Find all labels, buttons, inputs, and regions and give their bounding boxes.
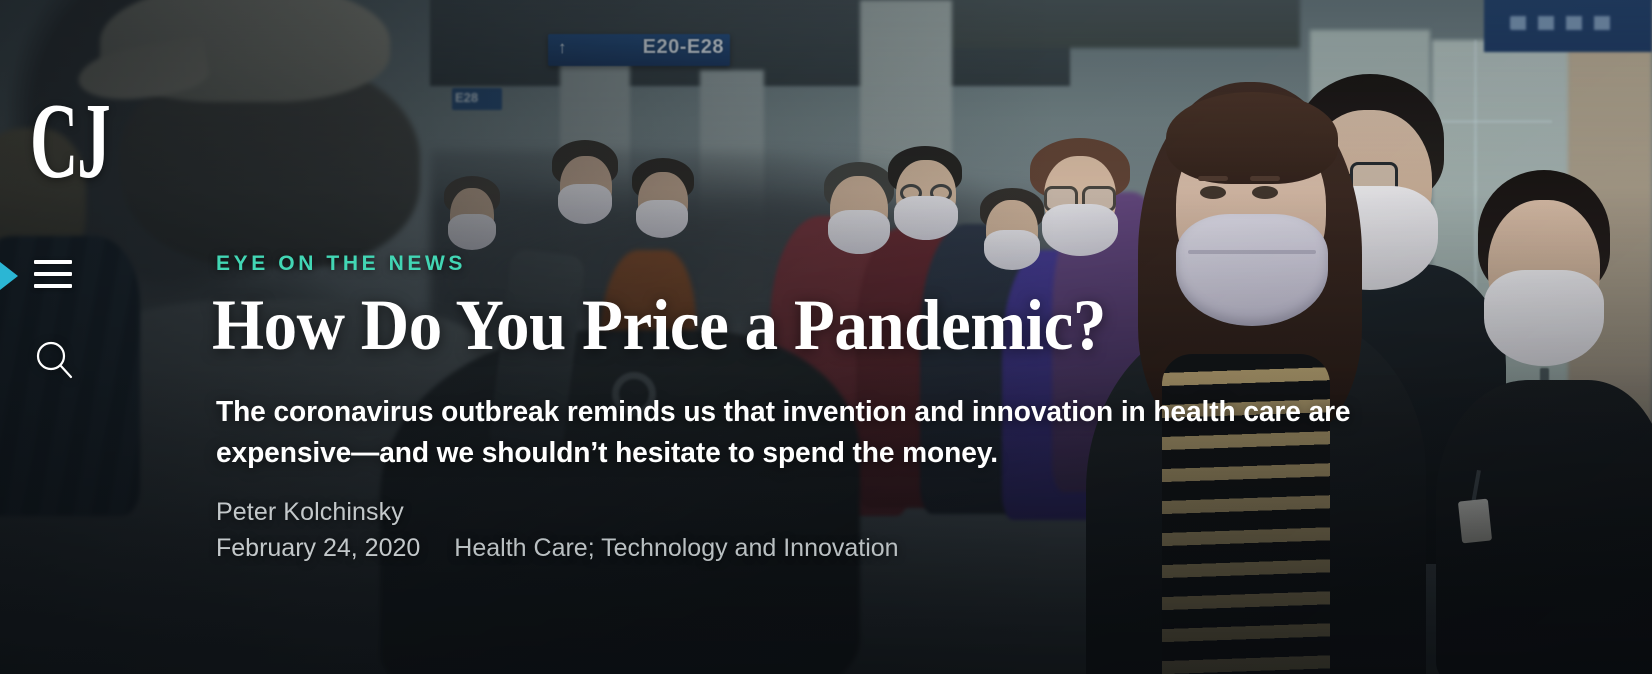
menu-bar-2 (34, 272, 72, 276)
article-tags[interactable]: Health Care; Technology and Innovation (454, 534, 898, 563)
chevron-right-arrow-icon (0, 262, 18, 290)
article-kicker[interactable]: EYE ON THE NEWS (216, 252, 466, 276)
site-logo[interactable]: CJ (30, 100, 109, 184)
article-meta: February 24, 2020 Health Care; Technolog… (216, 534, 899, 563)
article-dek: The coronavirus outbreak reminds us that… (216, 392, 1380, 474)
article-hero: ↑ E20-E28 E28 (0, 0, 1652, 674)
article-author[interactable]: Peter Kolchinsky (216, 498, 404, 527)
page-title: How Do You Price a Pandemic? (212, 288, 1106, 362)
sidebar-expand-arrow[interactable] (0, 262, 18, 290)
article-header-text: EYE ON THE NEWS How Do You Price a Pande… (216, 0, 1456, 674)
left-nav-rail: CJ (0, 0, 132, 674)
hamburger-menu-icon[interactable] (34, 260, 72, 290)
menu-bar-3 (34, 284, 72, 288)
menu-bar-1 (34, 260, 72, 264)
search-icon[interactable] (32, 338, 76, 382)
article-date: February 24, 2020 (216, 534, 420, 563)
